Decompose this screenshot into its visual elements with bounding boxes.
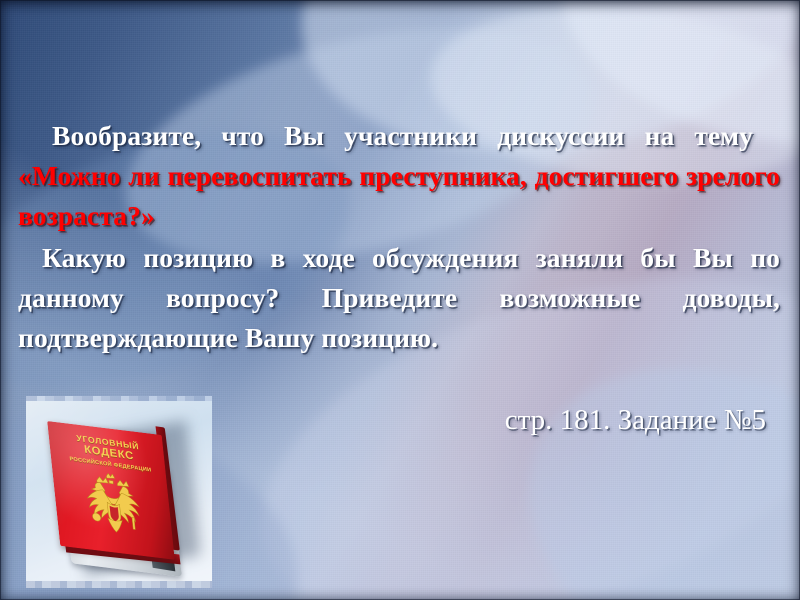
discussion-topic-quote: «Можно ли перевоспитать преступника, дос… [18, 160, 780, 231]
photo-edge [26, 581, 212, 588]
photo-edge [26, 396, 212, 401]
instruction-paragraph: Какую позицию в ходе обсуждения заняли б… [18, 238, 780, 358]
slide-text-block: Вообразите, что Вы участники дискуссии н… [18, 116, 780, 358]
book-object: УГОЛОВНЫЙ КОДЕКС РОССИЙСКОЙ ФЕДЕРАЦИИ [39, 409, 207, 586]
presentation-slide: Вообразите, что Вы участники дискуссии н… [0, 0, 800, 600]
double-headed-eagle-icon [74, 468, 153, 544]
question-lead-text: Вообразите, что Вы участники дискуссии н… [52, 120, 753, 151]
criminal-code-book-image: УГОЛОВНЫЙ КОДЕКС РОССИЙСКОЙ ФЕДЕРАЦИИ [26, 396, 212, 588]
question-paragraph: Вообразите, что Вы участники дискуссии н… [18, 116, 780, 236]
book-cover: УГОЛОВНЫЙ КОДЕКС РОССИЙСКОЙ ФЕДЕРАЦИИ [47, 421, 175, 560]
